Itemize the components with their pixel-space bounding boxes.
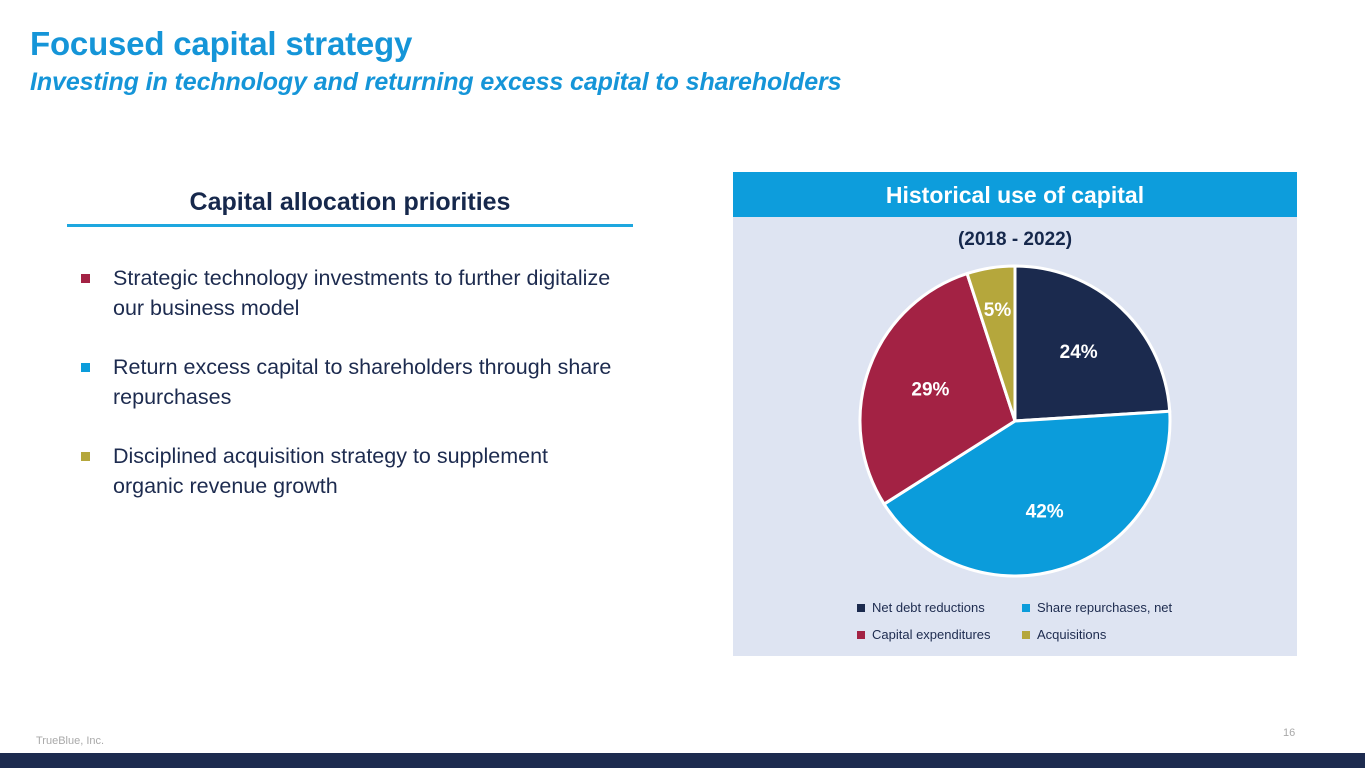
pie-chart-svg: 24%42%29%5%	[857, 263, 1173, 579]
historical-use-of-capital-panel: Historical use of capital (2018 - 2022) …	[733, 172, 1297, 656]
pie-slice-label: 24%	[1060, 342, 1098, 363]
pie-slice-label: 29%	[911, 380, 949, 401]
legend-swatch-icon	[1022, 631, 1030, 639]
page-subtitle: Investing in technology and returning ex…	[30, 66, 1130, 98]
legend-swatch-icon	[857, 631, 865, 639]
legend-item: Share repurchases, net	[1022, 600, 1172, 616]
legend-row: Capital expendituresAcquisitions	[857, 627, 1257, 643]
title-block: Focused capital strategy Investing in te…	[30, 24, 1130, 98]
bullet-square-icon	[81, 274, 90, 283]
legend-label: Acquisitions	[1037, 627, 1106, 643]
heading-underline	[67, 224, 633, 227]
page-number: 16	[1283, 727, 1295, 739]
legend-label: Share repurchases, net	[1037, 600, 1172, 616]
legend-item: Capital expenditures	[857, 627, 1022, 643]
slide-canvas: Focused capital strategy Investing in te…	[0, 0, 1365, 768]
priority-bullet-text: Return excess capital to shareholders th…	[113, 352, 613, 412]
legend-item: Net debt reductions	[857, 600, 1022, 616]
chart-period-label: (2018 - 2022)	[733, 229, 1297, 251]
legend-label: Capital expenditures	[872, 627, 991, 643]
legend-swatch-icon	[857, 604, 865, 612]
priority-bullet-item: Return excess capital to shareholders th…	[67, 352, 633, 412]
footer-company-name: TrueBlue, Inc.	[36, 735, 104, 747]
legend-row: Net debt reductionsShare repurchases, ne…	[857, 600, 1257, 616]
chart-legend: Net debt reductionsShare repurchases, ne…	[857, 600, 1257, 643]
chart-title: Historical use of capital	[886, 182, 1144, 208]
legend-label: Net debt reductions	[872, 600, 985, 616]
section-heading: Capital allocation priorities	[67, 186, 633, 218]
chart-header-bar: Historical use of capital	[733, 172, 1297, 217]
priority-bullet-item: Disciplined acquisition strategy to supp…	[67, 441, 633, 501]
pie-slice-label: 5%	[984, 300, 1012, 321]
bullet-square-icon	[81, 452, 90, 461]
capital-allocation-section: Capital allocation priorities Strategic …	[67, 186, 633, 501]
priority-bullet-text: Disciplined acquisition strategy to supp…	[113, 441, 613, 501]
legend-item: Acquisitions	[1022, 627, 1106, 643]
page-title: Focused capital strategy	[30, 24, 1130, 64]
bullet-square-icon	[81, 363, 90, 372]
pie-slice-label: 42%	[1026, 501, 1064, 522]
priority-bullet-text: Strategic technology investments to furt…	[113, 263, 613, 323]
bottom-accent-bar	[0, 753, 1365, 768]
priority-bullet-item: Strategic technology investments to furt…	[67, 263, 633, 323]
pie-chart: 24%42%29%5%	[857, 263, 1173, 579]
legend-swatch-icon	[1022, 604, 1030, 612]
priorities-bullet-list: Strategic technology investments to furt…	[67, 263, 633, 501]
